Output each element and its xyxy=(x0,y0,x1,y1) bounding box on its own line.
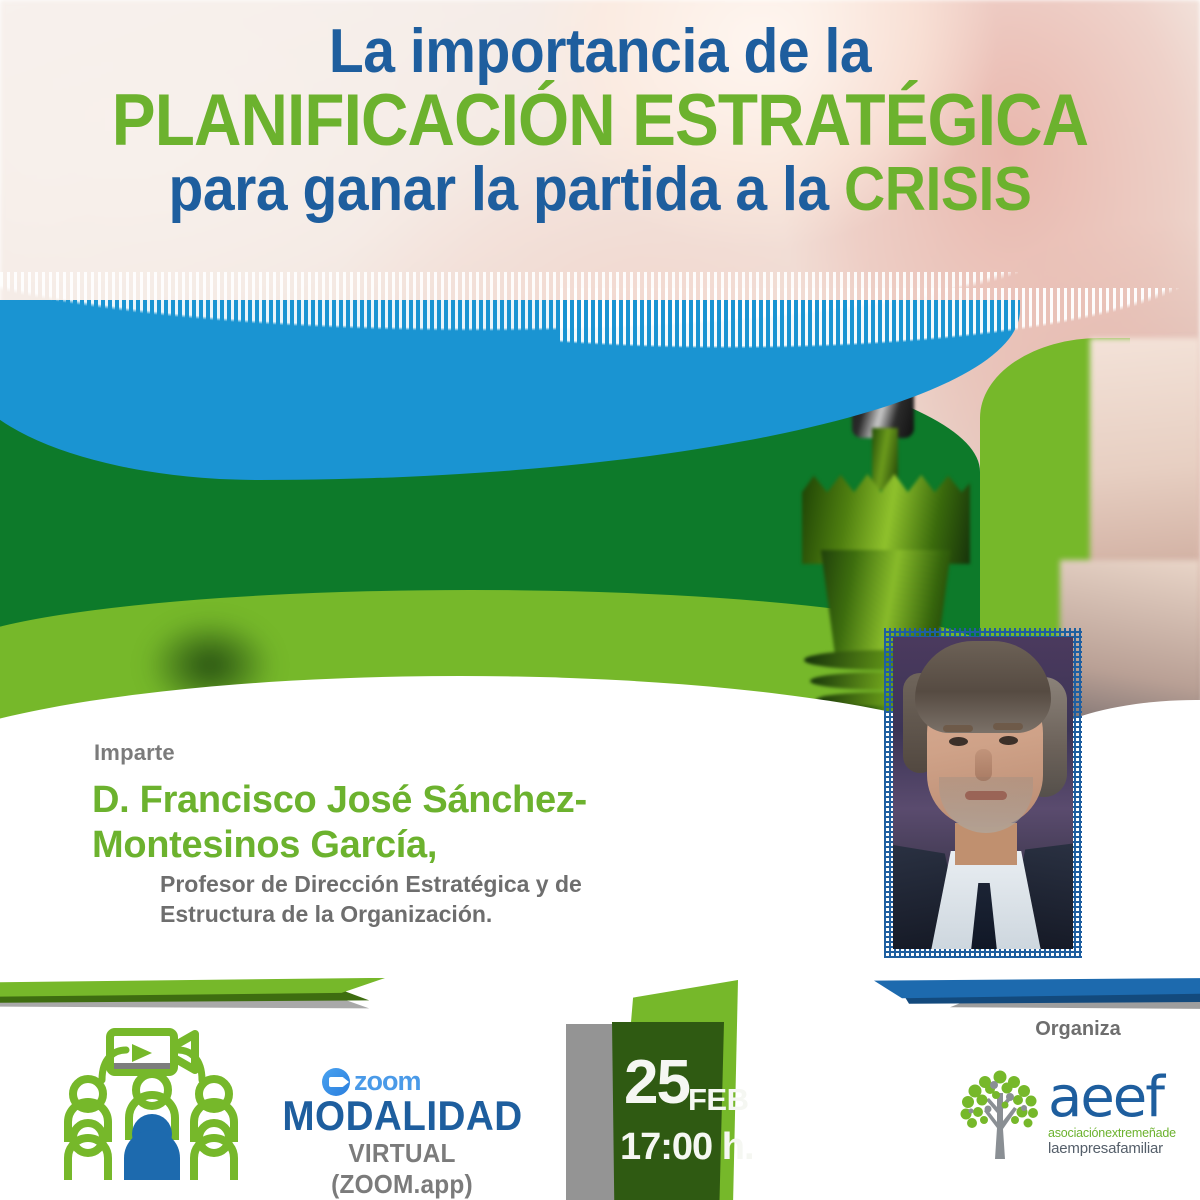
tree-icon xyxy=(958,1067,1042,1159)
aeef-logo: aeef asociaciónextremeñade laempresafami… xyxy=(958,1058,1188,1168)
organizer-label: Organiza xyxy=(958,1018,1198,1041)
webinar-people-icon xyxy=(62,1022,242,1182)
aeef-tagline-2: laempresafamiliar xyxy=(1048,1141,1176,1156)
date-time: 17:00 h. xyxy=(620,1126,754,1169)
modality-heading: MODALIDAD xyxy=(282,1092,521,1140)
green-ribbon-left xyxy=(0,978,385,1002)
speaker-name: D. Francisco José Sánchez-Montesinos Gar… xyxy=(92,778,792,868)
poster-title: La importancia de la PLANIFICACIÓN ESTRA… xyxy=(0,22,1200,221)
portrait-beard xyxy=(939,777,1033,833)
aeef-tagline-1: asociaciónextremeñade xyxy=(1048,1127,1176,1140)
speaker-role-line-2: Estructura de la Organización. xyxy=(160,900,720,930)
date-month: FEB xyxy=(688,1082,749,1118)
blue-ribbon-right xyxy=(860,978,1200,1004)
title-highlight-crisis: CRISIS xyxy=(844,155,1031,224)
portrait-eyebrow-left xyxy=(943,725,973,732)
event-poster: La importancia de la PLANIFICACIÓN ESTRA… xyxy=(0,0,1200,1200)
portrait-eye-right xyxy=(999,736,1018,745)
date-day: 25 xyxy=(624,1052,689,1114)
portrait-photo xyxy=(893,637,1073,949)
title-line-1: La importancia de la xyxy=(48,22,1152,83)
pinstripe-wave-right xyxy=(560,288,1200,418)
modality-subheading: VIRTUAL (ZOOM.app) xyxy=(280,1138,524,1200)
speaker-role: Profesor de Dirección Estratégica y de E… xyxy=(160,870,720,930)
title-line-2: PLANIFICACIÓN ESTRATÉGICA xyxy=(60,85,1140,157)
portrait-nose xyxy=(975,749,992,781)
title-line-3-prefix: para ganar la partida a la xyxy=(169,155,845,224)
speaker-portrait xyxy=(884,628,1082,958)
portrait-eye-left xyxy=(949,737,968,746)
aeef-wordmark: aeef xyxy=(1048,1070,1176,1126)
portrait-hair-top xyxy=(915,641,1051,733)
portrait-mouth xyxy=(965,791,1007,800)
speaker-role-line-1: Profesor de Dirección Estratégica y de xyxy=(160,870,720,900)
aeef-text: aeef asociaciónextremeñade laempresafami… xyxy=(1048,1070,1176,1156)
imparte-label: Imparte xyxy=(94,740,175,766)
title-line-3: para ganar la partida a la CRISIS xyxy=(48,160,1152,221)
portrait-eyebrow-right xyxy=(993,723,1023,730)
